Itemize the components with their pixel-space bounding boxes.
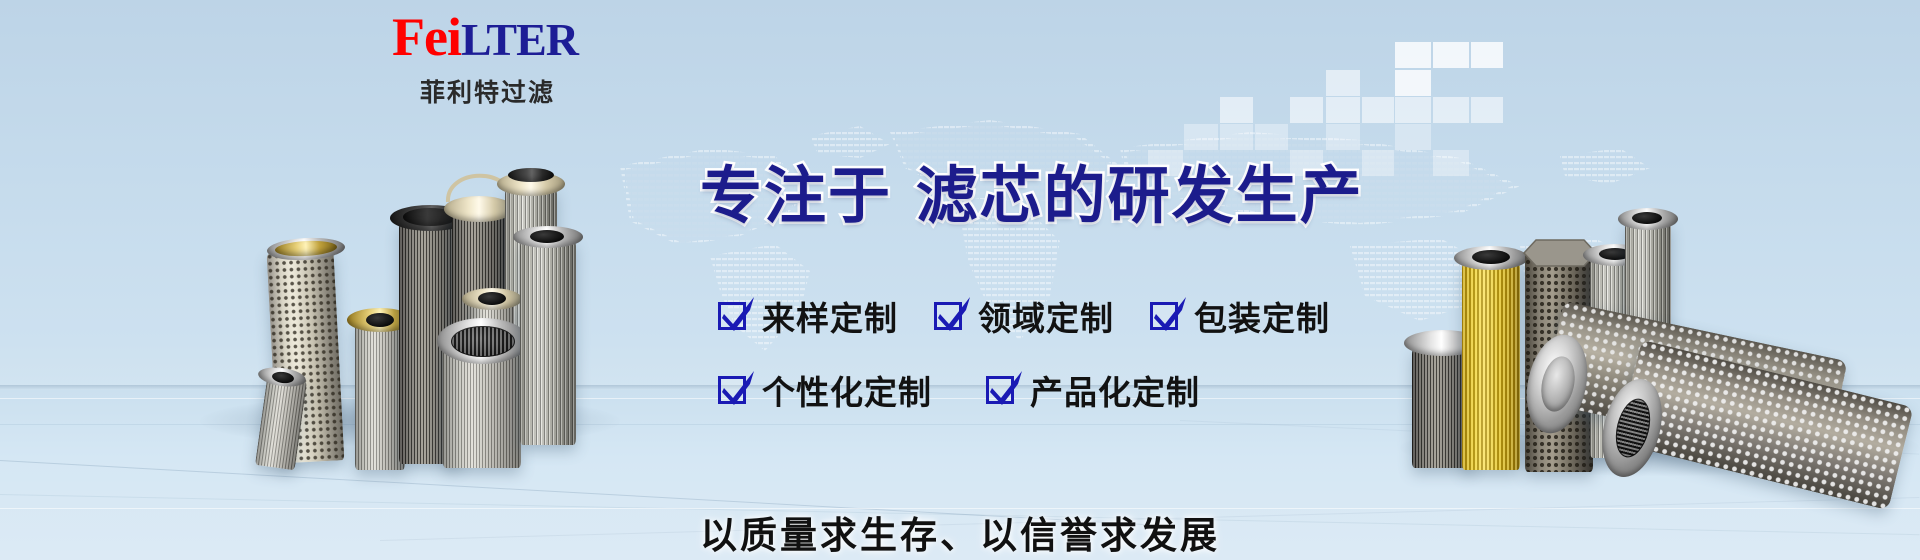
logo-chinese-name: 菲利特过滤 bbox=[420, 73, 692, 109]
logo-wordmark: FeiLTER bbox=[392, 8, 692, 69]
bottom-slogan: 以质量求生存、以信誉求发展 bbox=[0, 505, 1920, 559]
feature-label: 领域定制 bbox=[978, 292, 1114, 340]
feature-item-baozhuang[interactable]: 包装定制 bbox=[1150, 292, 1330, 340]
checkbox-checked-icon bbox=[986, 373, 1020, 407]
logo-word-primary: Fei bbox=[392, 7, 461, 67]
feature-item-chanpinhua[interactable]: 产品化定制 bbox=[986, 366, 1200, 414]
feature-label: 产品化定制 bbox=[1030, 366, 1200, 414]
feature-label: 来样定制 bbox=[762, 292, 898, 340]
feature-row-2: 个性化定制 产品化定制 bbox=[718, 366, 1478, 414]
feature-item-gexinghua[interactable]: 个性化定制 bbox=[718, 366, 932, 414]
checkbox-checked-icon bbox=[934, 299, 968, 333]
checkbox-checked-icon bbox=[718, 373, 752, 407]
company-logo[interactable]: FeiLTER 菲利特过滤 bbox=[392, 8, 692, 109]
feature-row-1: 来样定制 领域定制 包装定制 bbox=[718, 292, 1478, 340]
promotional-banner: FeiLTER 菲利特过滤 专注于 滤芯的研发生产 来样定制 领域定制 bbox=[0, 0, 1920, 560]
checkbox-checked-icon bbox=[718, 299, 752, 333]
feature-label: 包装定制 bbox=[1194, 292, 1330, 340]
checkbox-checked-icon bbox=[1150, 299, 1184, 333]
feature-label: 个性化定制 bbox=[762, 366, 932, 414]
logo-word-secondary: LTER bbox=[461, 14, 578, 65]
feature-item-lingyu[interactable]: 领域定制 bbox=[934, 292, 1114, 340]
feature-list: 来样定制 领域定制 包装定制 bbox=[718, 292, 1478, 414]
feature-item-laiyang[interactable]: 来样定制 bbox=[718, 292, 898, 340]
headline-text: 专注于 滤芯的研发生产 bbox=[700, 160, 1364, 232]
